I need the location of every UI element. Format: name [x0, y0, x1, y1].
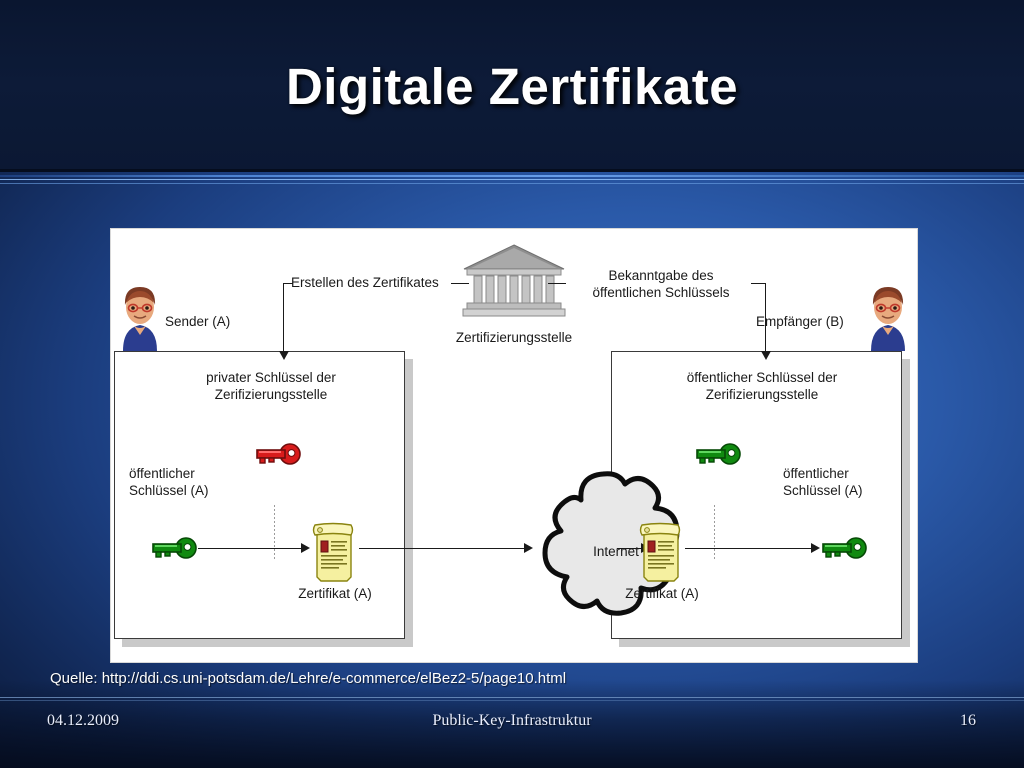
right-box-heading-line2: Zerifizierungsstelle — [706, 387, 819, 402]
left-key-to-cert-line — [198, 548, 301, 549]
left-box-heading-line2: Zerifizierungsstelle — [215, 387, 328, 402]
publish-key-label-line1: Bekanntgabe des — [608, 268, 713, 283]
left-certificate-label: Zertifikat (A) — [287, 585, 383, 602]
slide-canvas: Digitale Zertifikate — [0, 0, 1024, 768]
publish-key-arrowhead — [761, 351, 771, 360]
left-public-key-label-line1: öffentlicher — [129, 466, 195, 481]
left-box-heading-line1: privater Schlüssel der — [206, 370, 336, 385]
receiver-label: Empfänger (B) — [756, 313, 844, 330]
left-dotted-connector — [274, 505, 275, 559]
right-box-heading-line1: öffentlicher Schlüssel der — [687, 370, 838, 385]
ca-label: Zertifizierungsstelle — [439, 329, 589, 346]
right-certificate-label: Zertifikat (A) — [614, 585, 710, 602]
certificate-scroll-icon-right — [638, 521, 686, 588]
right-public-key-label: öffentlicher Schlüssel (A) — [783, 465, 908, 499]
right-public-key-label-line1: öffentlicher — [783, 466, 849, 481]
left-public-key-label: öffentlicher Schlüssel (A) — [129, 465, 254, 499]
person-avatar-icon-sender — [120, 285, 160, 356]
green-key-icon-right-public — [820, 535, 868, 566]
publish-key-label-line2: öffentlichen Schlüssels — [592, 285, 729, 300]
left-cert-to-cloud-line — [359, 548, 524, 549]
create-cert-connector-left — [283, 283, 293, 284]
right-box-heading: öffentlicher Schlüssel der Zerifizierung… — [667, 369, 857, 403]
left-public-key-label-line2: Schlüssel (A) — [129, 483, 209, 498]
header-divider-top — [0, 175, 1024, 177]
create-cert-connector-right — [451, 283, 469, 284]
person-avatar-icon-receiver — [868, 285, 908, 356]
publish-key-connector-right — [751, 283, 765, 284]
footer-subject: Public-Key-Infrastruktur — [0, 712, 1024, 730]
left-box-heading: privater Schlüssel der Zerifizierungsste… — [186, 369, 356, 403]
publish-key-connector-vertical — [765, 283, 766, 353]
left-key-to-cert-arrowhead — [301, 543, 310, 553]
footer-page-number: 16 — [960, 712, 976, 730]
diagram-panel: Zertifizierungsstelle Sender (A) — [110, 228, 918, 663]
create-certificate-label: Erstellen des Zertifikates — [291, 274, 439, 291]
page-title: Digitale Zertifikate — [0, 57, 1024, 116]
publish-key-connector-left — [548, 283, 566, 284]
header-divider-mid — [0, 179, 1024, 180]
red-key-icon — [254, 441, 302, 472]
create-cert-arrowhead — [279, 351, 289, 360]
sender-label: Sender (A) — [165, 313, 230, 330]
right-cert-to-key-line — [686, 548, 811, 549]
green-key-icon-ca-public — [694, 441, 742, 472]
right-public-key-label-line2: Schlüssel (A) — [783, 483, 863, 498]
create-cert-connector-vertical — [283, 283, 284, 353]
header-divider-bottom — [0, 183, 1024, 184]
green-key-icon-left-public — [150, 535, 198, 566]
right-cert-to-key-arrowhead — [811, 543, 820, 553]
publish-key-label: Bekanntgabe des öffentlichen Schlüssels — [566, 267, 756, 301]
certificate-scroll-icon-left — [311, 521, 359, 588]
right-dotted-connector — [714, 505, 715, 559]
